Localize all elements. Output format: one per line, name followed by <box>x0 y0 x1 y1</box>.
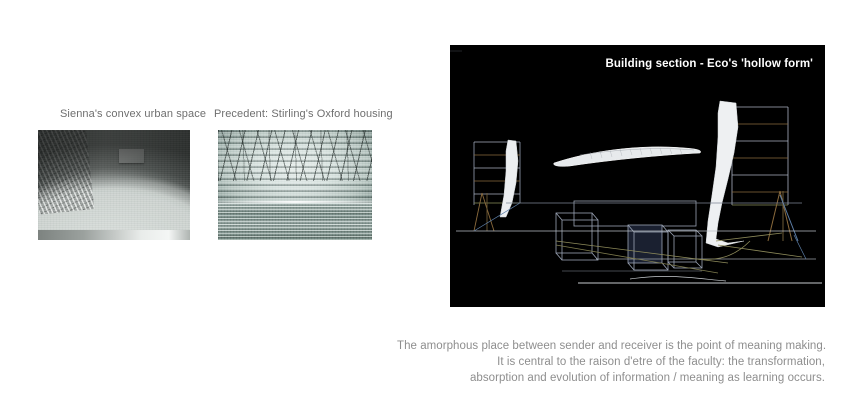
canopy-roof-form <box>554 147 701 167</box>
photo-siena-convex-urban-space <box>38 130 190 240</box>
right-frame-grid <box>732 107 788 205</box>
left-mass-form <box>500 140 518 217</box>
right-mass-form <box>706 101 744 247</box>
figure-caption-siena: Sienna's convex urban space <box>60 108 206 120</box>
wireframe-volumes <box>556 201 702 270</box>
right-support-legs <box>768 191 798 241</box>
building-section-drawing <box>450 45 825 307</box>
statement-line-1: The amorphous place between sender and r… <box>397 338 825 354</box>
statement-line-3: absorption and evolution of information … <box>397 370 825 386</box>
building-section-panel: Building section - Eco's 'hollow form' <box>450 45 825 307</box>
section-title: Building section - Eco's 'hollow form' <box>605 58 813 70</box>
statement-line-2: It is central to the raison d'etre of th… <box>397 354 825 370</box>
photo-stirling-oxford-housing <box>218 130 372 240</box>
figure-caption-stirling: Precedent: Stirling's Oxford housing <box>214 108 393 120</box>
statement-text: The amorphous place between sender and r… <box>397 338 825 386</box>
tension-grade-lines <box>556 233 802 281</box>
photo-siena-bottom-street <box>38 230 190 240</box>
photo-stirling-grain <box>218 130 372 240</box>
photo-siena-vignette <box>38 130 190 240</box>
